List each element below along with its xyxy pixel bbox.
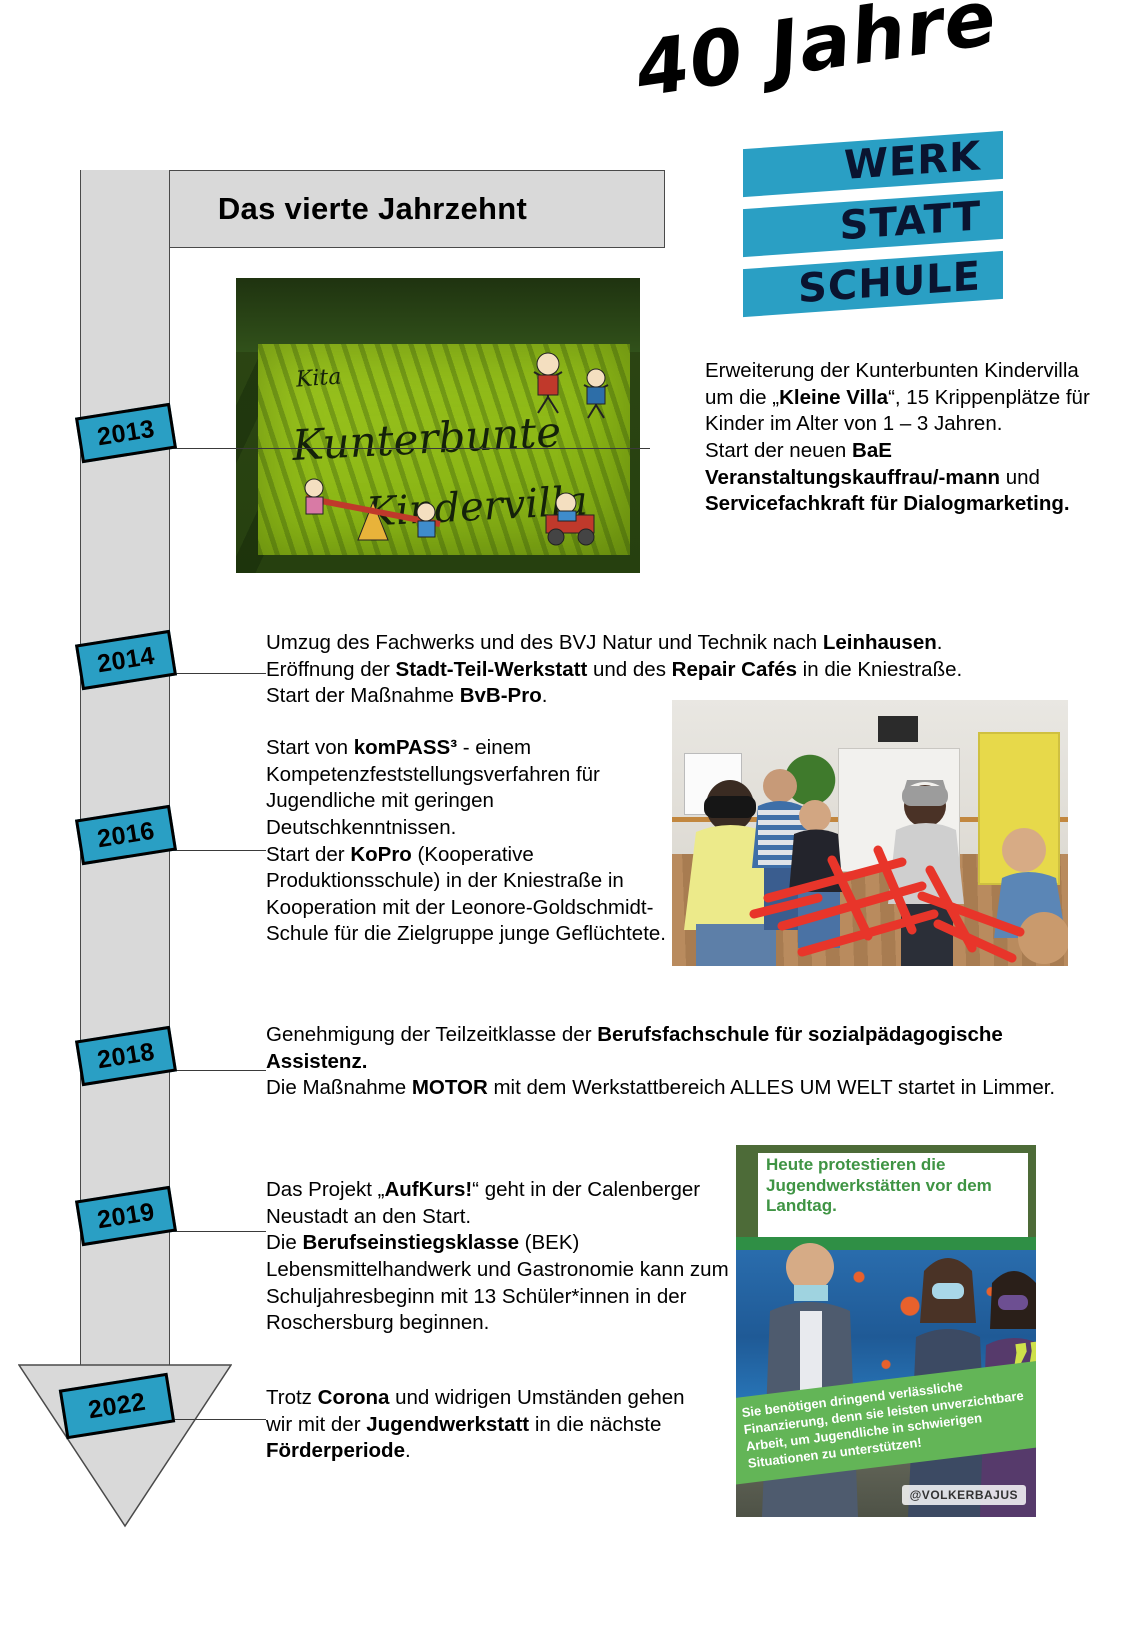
connector-line-2022 [170, 1419, 266, 1420]
connector-line-2014 [170, 673, 266, 674]
kita-wagon-drawing [528, 487, 612, 549]
photo-landtag-protest: Heute protestieren die Jugendwerkstätten… [736, 1145, 1036, 1517]
connector-line-2013 [170, 448, 650, 449]
entry-text-2016: Start von komPASS³ - einem Kompetenzfest… [266, 735, 666, 948]
protest-account-handle: @VOLKERBAJUS [902, 1485, 1026, 1505]
photo-kita-kunterbunte-kindervilla: Kita Kunterbunte Kindervilla [236, 278, 640, 573]
kita-seesaw-drawing [298, 452, 448, 547]
connector-line-2018 [170, 1070, 266, 1071]
entry-text-2022: Trotz Corona und widrigen Umständen gehe… [266, 1385, 686, 1465]
connector-line-2016 [170, 850, 266, 851]
kita-foliage [236, 278, 640, 352]
logo-bar-werk-label: WERK [844, 132, 1003, 189]
year-label-2022: 2022 [86, 1387, 147, 1425]
year-label-2013: 2013 [95, 414, 156, 452]
logo-bar-werk: WERK [743, 131, 1003, 197]
year-label-2018: 2018 [95, 1037, 156, 1075]
kita-sign-line-1: Kita [295, 364, 342, 392]
logo-bar-statt: STATT [743, 191, 1003, 257]
logo-bar-schule: SCHULE [743, 251, 1003, 317]
year-label-2016: 2016 [95, 816, 156, 854]
logo-bar-schule-label: SCHULE [798, 252, 1003, 312]
year-label-2014: 2014 [95, 641, 156, 679]
connector-line-2019 [170, 1231, 266, 1232]
logo-bar-statt-label: STATT [840, 192, 1003, 249]
werkstattschule-logo: 40 Jahre WERK STATT SCHULE [630, 18, 1110, 318]
page-title: Das vierte Jahrzehnt [218, 191, 527, 227]
entry-text-2018: Genehmigung der Teilzeitklasse der Beruf… [266, 1022, 1056, 1102]
entry-text-2013: Erweiterung der Kunterbunten Kindervilla… [705, 358, 1105, 518]
year-label-2019: 2019 [95, 1197, 156, 1235]
protest-headline-text: Heute protestieren die Jugendwerkstätten… [766, 1155, 1026, 1217]
kita-sign-board: Kita Kunterbunte Kindervilla [258, 344, 630, 555]
entry-text-2019: Das Projekt „AufKurs!“ geht in der Calen… [266, 1177, 736, 1337]
anniversary-headline: 40 Jahre [630, 0, 1108, 114]
entry-text-2014: Umzug des Fachwerks und des BVJ Natur un… [266, 630, 1066, 710]
photo-kompass-workshop [672, 700, 1068, 966]
workshop-people-and-rods [672, 700, 1068, 966]
kita-children-drawing-top [516, 348, 626, 428]
timeline-arrow-shaft [80, 170, 170, 1365]
